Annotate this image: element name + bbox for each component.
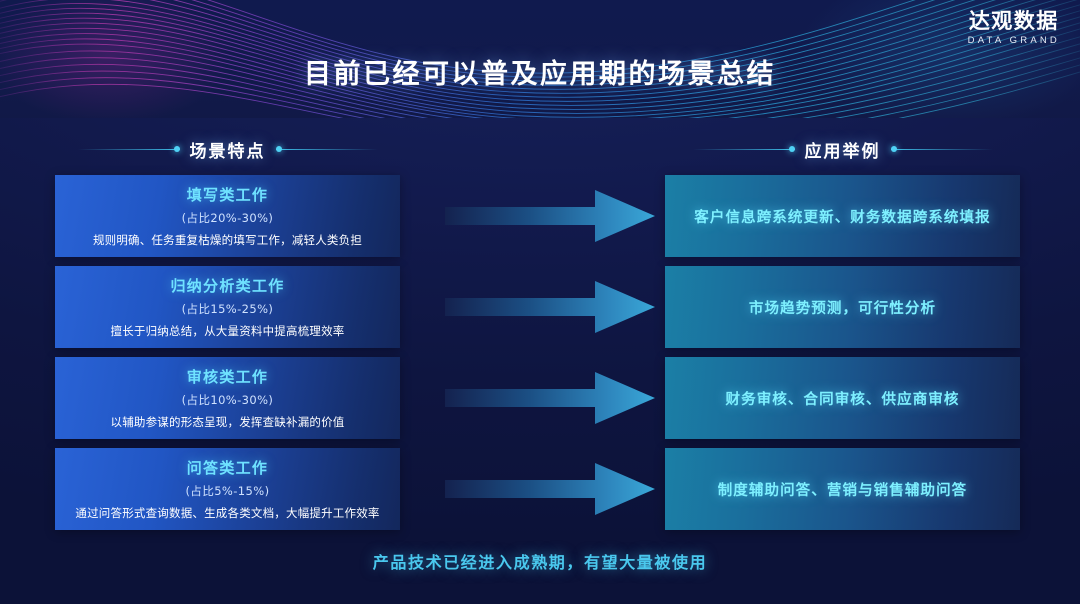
example-card-title: 财务审核、合同审核、供应商审核 xyxy=(726,388,960,409)
example-card[interactable]: 客户信息跨系统更新、财务数据跨系统填报 xyxy=(665,175,1020,257)
page-title: 目前已经可以普及应用期的场景总结 xyxy=(0,52,1080,91)
feature-card[interactable]: 审核类工作 (占比10%-30%) 以辅助参谋的形态呈现，发挥查缺补漏的价值 xyxy=(55,357,400,439)
heading-rule-left xyxy=(693,149,795,150)
brand-logo: 达观数据 DATA GRAND xyxy=(968,10,1060,46)
column-heading-features: 场景特点 xyxy=(55,134,400,164)
example-card[interactable]: 市场趋势预测，可行性分析 xyxy=(665,266,1020,348)
feature-card[interactable]: 归纳分析类工作 (占比15%-25%) 擅长于归纳总结，从大量资料中提高梳理效率 xyxy=(55,266,400,348)
feature-card-percent: (占比20%-30%) xyxy=(182,210,274,226)
brand-name-cn: 达观数据 xyxy=(968,10,1060,32)
feature-card-desc: 通过问答形式查询数据、生成各类文档，大幅提升工作效率 xyxy=(75,505,379,521)
slide-canvas: 达观数据 DATA GRAND 目前已经可以普及应用期的场景总结 场景特点 应用… xyxy=(0,0,1080,604)
example-card-title: 市场趋势预测，可行性分析 xyxy=(749,297,936,318)
example-card-title: 制度辅助问答、营销与销售辅助问答 xyxy=(718,479,968,500)
flow-arrow-icon xyxy=(445,188,655,244)
feature-card-desc: 擅长于归纳总结，从大量资料中提高梳理效率 xyxy=(111,323,345,339)
column-heading-label-right: 应用举例 xyxy=(805,137,881,162)
feature-card[interactable]: 问答类工作 (占比5%-15%) 通过问答形式查询数据、生成各类文档，大幅提升工… xyxy=(55,448,400,530)
flow-arrow-icon xyxy=(445,370,655,426)
flow-arrow-icon xyxy=(445,461,655,517)
heading-rule-left xyxy=(78,149,180,150)
heading-rule-right xyxy=(891,149,993,150)
heading-dot-icon xyxy=(276,146,282,152)
feature-card-title: 归纳分析类工作 xyxy=(170,275,284,296)
feature-card-title: 填写类工作 xyxy=(187,184,269,205)
feature-card[interactable]: 填写类工作 (占比20%-30%) 规则明确、任务重复枯燥的填写工作，减轻人类负… xyxy=(55,175,400,257)
feature-card-desc: 以辅助参谋的形态呈现，发挥查缺补漏的价值 xyxy=(111,414,345,430)
heading-rule-right xyxy=(276,149,378,150)
feature-card-title: 问答类工作 xyxy=(187,457,269,478)
column-heading-examples: 应用举例 xyxy=(665,134,1020,164)
brand-name-en: DATA GRAND xyxy=(968,35,1060,46)
feature-card-percent: (占比5%-15%) xyxy=(186,483,270,499)
example-card-title: 客户信息跨系统更新、财务数据跨系统填报 xyxy=(694,206,990,227)
heading-dot-icon xyxy=(891,146,897,152)
flow-arrow-icon xyxy=(445,279,655,335)
heading-dot-icon xyxy=(789,146,795,152)
footer-conclusion: 产品技术已经进入成熟期，有望大量被使用 xyxy=(0,549,1080,573)
feature-card-title: 审核类工作 xyxy=(187,366,269,387)
example-card[interactable]: 制度辅助问答、营销与销售辅助问答 xyxy=(665,448,1020,530)
feature-card-desc: 规则明确、任务重复枯燥的填写工作，减轻人类负担 xyxy=(93,232,362,248)
feature-card-percent: (占比10%-30%) xyxy=(182,392,274,408)
example-card[interactable]: 财务审核、合同审核、供应商审核 xyxy=(665,357,1020,439)
heading-dot-icon xyxy=(174,146,180,152)
feature-card-percent: (占比15%-25%) xyxy=(182,301,274,317)
column-heading-label-left: 场景特点 xyxy=(190,137,266,162)
